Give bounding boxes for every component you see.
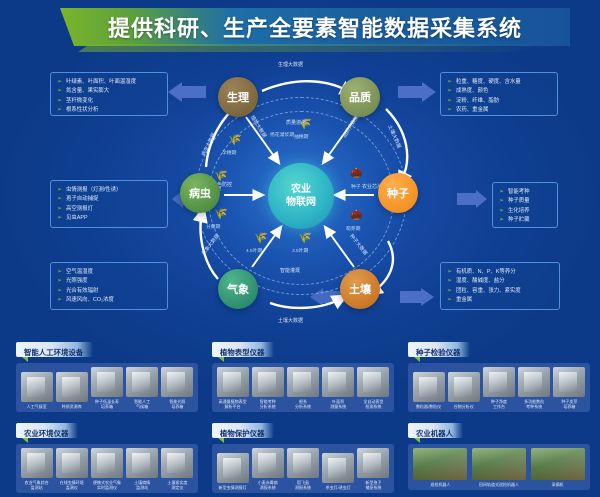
- node-quality[interactable]: 品质: [340, 77, 380, 117]
- product-thumb-icon: [21, 372, 53, 402]
- product-item[interactable]: 智能人工 气候箱: [125, 367, 159, 409]
- product-thumb-icon: [217, 453, 249, 483]
- list-item: ➢见虫APP: [57, 214, 161, 223]
- product-caption: 种子低温长寿 培养箱: [95, 399, 119, 409]
- panel-title: 植物表型仪器: [220, 348, 264, 357]
- product-item[interactable]: 全自动表型 检测系统: [356, 367, 390, 409]
- arc-label-smart-irrigation: 智能灌溉: [280, 267, 300, 274]
- plant-icon: 🌾: [298, 233, 312, 244]
- node-label: 土壤: [349, 281, 371, 297]
- list-item: ➢种子质量: [499, 197, 551, 206]
- product-caption: 田间轨道式巡检机器人: [479, 482, 519, 487]
- core-label-line2: 物联网: [286, 196, 316, 209]
- bullet-icon: ➢: [57, 78, 62, 87]
- list-item: ➢根系性状分析: [57, 106, 161, 115]
- product-item[interactable]: 种子低温长寿 培养箱: [90, 367, 124, 409]
- product-caption: 多功能数粒 考种系统: [524, 399, 544, 409]
- product-thumb-icon: [472, 448, 526, 480]
- product-caption: 种质资源库: [62, 404, 82, 409]
- bullet-icon: ➢: [57, 195, 62, 204]
- product-caption: 在线虫情环境 监测仪: [60, 480, 84, 490]
- product-caption: 种子发芽 培养箱: [561, 399, 577, 409]
- arrow-to-seed-box: [457, 190, 487, 208]
- list-item: ➢空气温湿度: [57, 268, 161, 277]
- core-label-line1: 农业: [291, 183, 311, 196]
- list-item: ➢成熟度、颜色: [447, 87, 551, 96]
- product-caption: 新型虫情测报灯: [219, 485, 247, 490]
- list-item: ➢粒重、糖度、硬度、含水量: [447, 78, 551, 87]
- stage-label: 孕穗期: [222, 149, 236, 156]
- panel-ag-robots: 农业机器人 巡检机器人 田间轨道式巡检机器人 采摘机: [408, 423, 590, 490]
- panel-title-tab: 农业机器人: [408, 423, 463, 438]
- stage-label: 3.5叶期: [292, 247, 308, 254]
- product-caption: 数粒器/数粒仪: [416, 404, 441, 409]
- product-thumb-icon: [252, 448, 284, 478]
- panel-title-tab: 种子检验仪器: [408, 342, 470, 357]
- node-label: 气象: [227, 281, 249, 297]
- product-thumb-icon: [531, 448, 585, 480]
- product-item[interactable]: 根系 分析系统: [286, 367, 320, 409]
- product-thumb-icon: [322, 453, 354, 483]
- product-caption: 采摘机: [552, 482, 564, 487]
- core-node-agri-iot[interactable]: 农业 物联网: [268, 163, 334, 229]
- list-item: ➢光照强度: [57, 277, 161, 286]
- product-item[interactable]: 新型孢子 捕捉系统: [356, 448, 390, 490]
- list-item: ➢高空测报灯: [57, 205, 161, 214]
- product-item[interactable]: 谷物分析仪: [447, 372, 481, 409]
- tab-notch-icon: [218, 438, 224, 443]
- product-item[interactable]: 土壤紧实度 测定仪: [160, 448, 194, 490]
- bullet-icon: ➢: [499, 216, 504, 225]
- product-item[interactable]: 种子发芽 培养箱: [552, 367, 586, 409]
- product-caption: 巡检机器人: [430, 482, 450, 487]
- header: 提供科研、生产全要素智能数据采集系统: [0, 0, 600, 52]
- product-thumb-icon: [217, 367, 249, 397]
- seed-icon: 🌰: [350, 211, 362, 221]
- product-caption: 智能人工 气候箱: [134, 399, 150, 409]
- list-item: ➢淀粉、纤维、脂肪: [447, 97, 551, 106]
- product-caption: 高通量植物表型 解析平台: [219, 399, 247, 409]
- product-item[interactable]: 便携式农业气象 实时监测仪: [90, 448, 124, 490]
- bullet-icon: ➢: [57, 268, 62, 277]
- product-caption: 小麦赤霉病 测报系统: [258, 480, 278, 490]
- product-thumb-icon: [357, 448, 389, 478]
- node-physiology[interactable]: 生理: [218, 77, 258, 117]
- product-item[interactable]: 采摘机: [530, 448, 586, 487]
- node-seed[interactable]: 种子: [378, 173, 418, 213]
- product-thumb-icon: [322, 367, 354, 397]
- bullet-icon: ➢: [57, 186, 62, 195]
- product-caption: 根系 分析系统: [295, 399, 311, 409]
- product-thumb-icon: [126, 367, 158, 397]
- soil-box: ➢有机质、N、P、K等养分 ➢湿度、酸碱度、盐分 ➢团粒、容重、张力、紧实度 ➢…: [440, 262, 560, 310]
- product-item[interactable]: 稻飞虱 测报系统: [286, 448, 320, 490]
- list-item: ➢种子贮藏: [499, 216, 551, 225]
- product-item[interactable]: 小麦赤霉病 测报系统: [251, 448, 285, 490]
- product-thumb-icon: [553, 367, 585, 397]
- product-caption: 便携式农业气象 实时监测仪: [93, 480, 121, 490]
- quality-box: ➢粒重、糖度、硬度、含水量 ➢成熟度、颜色 ➢淀粉、纤维、脂肪 ➢农药、重金属: [440, 72, 558, 116]
- tab-notch-icon: [22, 357, 28, 362]
- product-item[interactable]: 土壤墒情 监测站: [125, 448, 159, 490]
- product-item[interactable]: 人工气候室: [20, 372, 54, 409]
- panel-products: 数粒器/数粒仪 谷物分析仪 种子净度 工作台 多功能数粒 考种系统 种子发芽 培…: [408, 363, 590, 412]
- bullet-icon: ➢: [57, 87, 62, 96]
- product-caption: 叶面积 测量系统: [330, 399, 346, 409]
- product-thumb-icon: [357, 367, 389, 397]
- panel-plant-phenotype: 植物表型仪器 高通量植物表型 解析平台 智能考种 分析系统 根系 分析系统 叶面…: [212, 342, 394, 412]
- product-caption: 人工气候室: [27, 404, 47, 409]
- product-thumb-icon: [126, 448, 158, 478]
- seed-box: ➢智能考种 ➢种子质量 ➢生化培养 ➢种子贮藏: [492, 182, 558, 228]
- list-item: ➢农药、重金属: [447, 106, 551, 115]
- product-caption: 种子净度 工作台: [491, 399, 507, 409]
- list-item: ➢湿度、酸碱度、盐分: [447, 277, 553, 286]
- stage-label: 抽穗期: [294, 133, 308, 140]
- tab-notch-icon: [414, 357, 420, 362]
- list-item: ➢重金属: [447, 296, 553, 305]
- list-item: ➢虫情测报（灯测/性诱）: [57, 186, 161, 195]
- bullet-icon: ➢: [57, 106, 62, 115]
- product-thumb-icon: [448, 372, 480, 402]
- list-item: ➢叶绿素、叶面积、叶面温湿度: [57, 78, 161, 87]
- product-caption: 土壤墒情 监测站: [134, 480, 150, 490]
- product-thumb-icon: [252, 367, 284, 397]
- panel-title: 植物保护仪器: [220, 429, 264, 438]
- panel-title: 农业机器人: [416, 429, 453, 438]
- tab-notch-icon: [414, 438, 420, 443]
- tab-notch-icon: [22, 438, 28, 443]
- product-item[interactable]: 杀虫灯/诱虫灯: [321, 453, 355, 490]
- product-caption: 谷物分析仪: [454, 404, 474, 409]
- product-item[interactable]: 田间轨道式巡检机器人: [471, 448, 527, 487]
- panel-products: 农业气象综合 监测站 在线虫情环境 监测仪 便携式农业气象 实时监测仪 土壤墒情…: [16, 444, 198, 493]
- panel-title: 农业环境仪器: [24, 429, 68, 438]
- iot-cycle-diagram: 🌾 🌾 🌾 🌾 🌾 🌾 🌰 🌰 扬花灌浆期 孕穗期 抽穗期 分蘖盛期 分蘖期 4…: [150, 55, 450, 330]
- product-item[interactable]: 新型虫情测报灯: [216, 453, 250, 490]
- stage-label: 萌芽期: [346, 225, 360, 232]
- panel-title-tab: 植物保护仪器: [212, 423, 274, 438]
- product-item[interactable]: 多功能数粒 考种系统: [517, 367, 551, 409]
- node-label: 品质: [349, 89, 371, 105]
- product-caption: 土壤紧实度 测定仪: [167, 480, 187, 490]
- arc-label-quality-trace: 质量追溯: [286, 119, 306, 126]
- product-thumb-icon: [161, 448, 193, 478]
- arc-label-top: 生理大数据: [278, 61, 303, 68]
- bullet-icon: ➢: [499, 197, 504, 206]
- bullet-icon: ➢: [499, 188, 504, 197]
- panel-title: 智能人工环境设备: [24, 348, 83, 357]
- panel-products: 巡检机器人 田间轨道式巡检机器人 采摘机: [408, 444, 590, 490]
- product-caption: 新型孢子 捕捉系统: [365, 480, 381, 490]
- product-item[interactable]: 农业气象综合 监测站: [20, 448, 54, 490]
- panel-products: 高通量植物表型 解析平台 智能考种 分析系统 根系 分析系统 叶面积 测量系统 …: [212, 363, 394, 412]
- panel-title: 种子检验仪器: [416, 348, 460, 357]
- plant-icon: 🌾: [214, 209, 228, 220]
- product-item[interactable]: 叶面积 测量系统: [321, 367, 355, 409]
- node-label: 病虫: [189, 185, 211, 201]
- product-item[interactable]: 智能考种 分析系统: [251, 367, 285, 409]
- panel-title-tab: 智能人工环境设备: [16, 342, 93, 357]
- stage-label: 4.5叶期: [246, 247, 262, 254]
- list-item: ➢团粒、容重、张力、紧实度: [447, 287, 553, 296]
- list-item: ➢光合有效辐射: [57, 287, 161, 296]
- panel-title-tab: 农业环境仪器: [16, 423, 78, 438]
- node-weather[interactable]: 气象: [218, 269, 258, 309]
- bullet-icon: ➢: [57, 205, 62, 214]
- node-label: 生理: [227, 89, 249, 105]
- arc-label-bottom: 土壤大数据: [278, 317, 303, 324]
- product-thumb-icon: [56, 448, 88, 478]
- product-item[interactable]: 巡检机器人: [412, 448, 468, 487]
- panel-ag-environment: 农业环境仪器 农业气象综合 监测站 在线虫情环境 监测仪 便携式农业气象 实时监…: [16, 423, 198, 493]
- product-caption: 农业气象综合 监测站: [25, 480, 49, 490]
- page-title: 提供科研、生产全要素智能数据采集系统: [60, 9, 570, 45]
- product-thumb-icon: [91, 367, 123, 397]
- product-thumb-icon: [413, 448, 467, 480]
- product-thumb-icon: [518, 367, 550, 397]
- panel-products: 新型虫情测报灯 小麦赤霉病 测报系统 稻飞虱 测报系统 杀虫灯/诱虫灯 新型孢子…: [212, 444, 394, 493]
- panel-title-tab: 植物表型仪器: [212, 342, 274, 357]
- list-item: ➢有机质、N、P、K等养分: [447, 268, 553, 277]
- node-label: 种子: [387, 185, 409, 201]
- product-thumb-icon: [483, 367, 515, 397]
- panel-products: 人工气候室 种质资源库 种子低温长寿 培养箱 智能人工 气候箱 智能光照 培养箱: [16, 363, 198, 412]
- product-thumb-icon: [21, 448, 53, 478]
- product-item[interactable]: 高通量植物表型 解析平台: [216, 367, 250, 409]
- product-caption: 杀虫灯/诱虫灯: [326, 485, 351, 490]
- product-item[interactable]: 在线虫情环境 监测仪: [55, 448, 89, 490]
- product-caption: 稻飞虱 测报系统: [295, 480, 311, 490]
- product-item[interactable]: 数粒器/数粒仪: [412, 372, 446, 409]
- node-pest[interactable]: 病虫: [180, 173, 220, 213]
- product-caption: 智能考种 分析系统: [260, 399, 276, 409]
- node-soil[interactable]: 土壤: [340, 269, 380, 309]
- bullet-icon: ➢: [57, 287, 62, 296]
- product-caption: 全自动表型 检测系统: [363, 399, 383, 409]
- stage-label: 种子: [351, 183, 361, 190]
- bullet-icon: ➢: [57, 277, 62, 286]
- product-item[interactable]: 种质资源库: [55, 372, 89, 409]
- product-caption: 智能光照 培养箱: [169, 399, 185, 409]
- product-thumb-icon: [413, 372, 445, 402]
- list-item: ➢茎秆微变化: [57, 97, 161, 106]
- panel-smart-env: 智能人工环境设备 人工气候室 种质资源库 种子低温长寿 培养箱 智能人工 气候箱…: [16, 342, 198, 412]
- list-item: ➢孢子自动捕捉: [57, 195, 161, 204]
- tab-notch-icon: [218, 357, 224, 362]
- header-banner-shadow: [78, 44, 548, 52]
- panel-plant-protection: 植物保护仪器 新型虫情测报灯 小麦赤霉病 测报系统 稻飞虱 测报系统 杀虫灯/诱…: [212, 423, 394, 493]
- product-thumb-icon: [287, 448, 319, 478]
- seed-icon: 🌰: [350, 169, 362, 179]
- product-thumb-icon: [287, 367, 319, 397]
- product-item[interactable]: 智能光照 培养箱: [160, 367, 194, 409]
- bullet-icon: ➢: [499, 207, 504, 216]
- bullet-icon: ➢: [57, 214, 62, 223]
- product-thumb-icon: [161, 367, 193, 397]
- plant-icon: 🌾: [254, 233, 268, 244]
- stage-label: 扬花灌浆期: [270, 131, 294, 138]
- stage-label: 分蘖期: [206, 223, 220, 230]
- list-item: ➢氮含量、果实膨大: [57, 87, 161, 96]
- list-item: ➢风速风向、CO₂浓度: [57, 296, 161, 305]
- bullet-icon: ➢: [57, 296, 62, 305]
- product-thumb-icon: [56, 372, 88, 402]
- panel-seed-testing: 种子检验仪器 数粒器/数粒仪 谷物分析仪 种子净度 工作台 多功能数粒 考种系统…: [408, 342, 590, 412]
- product-thumb-icon: [91, 448, 123, 478]
- product-item[interactable]: 种子净度 工作台: [482, 367, 516, 409]
- bullet-icon: ➢: [57, 97, 62, 106]
- list-item: ➢生化培养: [499, 207, 551, 216]
- list-item: ➢智能考种: [499, 188, 551, 197]
- plant-icon: 🌾: [228, 135, 242, 146]
- poster-canvas: 提供科研、生产全要素智能数据采集系统 ➢叶绿素、叶面积、叶面温湿度 ➢氮含量、果…: [0, 0, 600, 497]
